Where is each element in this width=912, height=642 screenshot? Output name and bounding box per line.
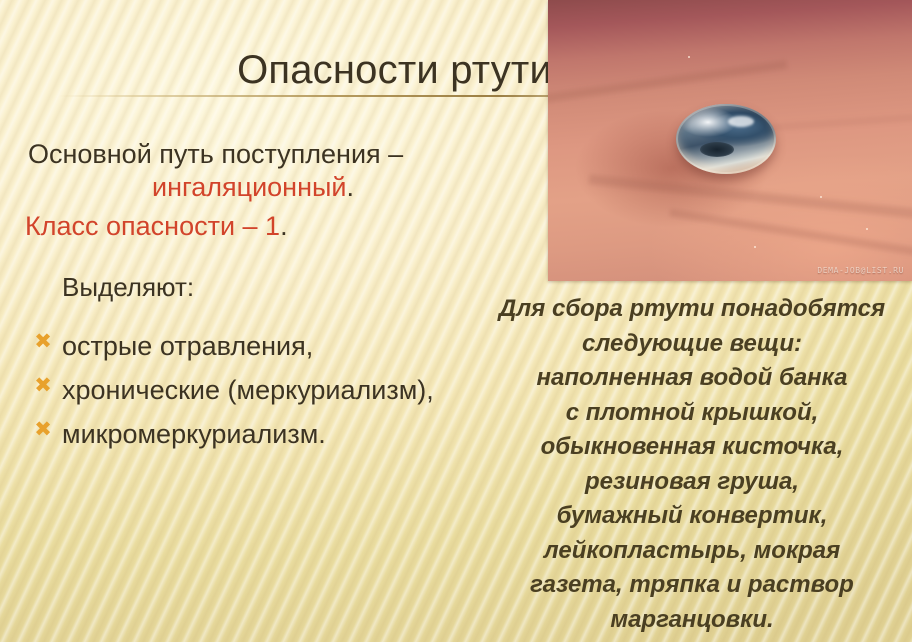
skin-speck [866,228,868,230]
collection-line: марганцовки. [476,603,908,638]
skin-speck [754,246,756,248]
hazard-class-text: Класс опасности – 1 [25,211,280,241]
cross-bullet-icon: ✖ [33,332,53,352]
route-lead-text: Основной путь поступления – [28,139,403,169]
hazard-class-paragraph: Класс опасности – 1. [0,209,520,243]
list-item: ✖ хронические (меркуриализм), [0,374,520,407]
hazard-class-period: . [280,211,288,241]
skin-speck [820,196,822,198]
route-of-entry-paragraph: Основной путь поступления – ингаляционны… [0,138,520,204]
route-period: . [347,172,355,202]
collection-line: резиновая груша, [476,465,908,500]
collection-line: следующие вещи: [476,327,908,362]
list-item-label: острые отравления, [62,330,520,363]
bead-rim-light [676,104,776,174]
skin-speck [688,56,690,58]
list-item-label: микромеркуриализм. [62,418,520,451]
collection-line: газета, тряпка и раствор [476,568,908,603]
list-item-label: хронические (меркуриализм), [62,374,520,407]
collection-line: Для сбора ртути понадобятся [476,292,908,327]
title-underline-rule [58,95,558,97]
left-content-column: Основной путь поступления – ингаляционны… [0,138,520,462]
collection-line: с плотной крышкой, [476,396,908,431]
page-title: Опасности ртути [237,46,552,94]
mercury-bead [676,104,776,174]
mercury-droplet-photo: DEMA-JOB@LIST.RU [548,0,912,281]
title-block: Опасности ртути [0,46,560,98]
route-highlight-text: ингаляционный [152,172,347,202]
distinguish-label: Выделяют: [0,270,520,304]
photo-watermark: DEMA-JOB@LIST.RU [817,266,904,275]
cross-bullet-icon: ✖ [33,376,53,396]
collection-instructions-block: Для сбора ртути понадобятся следующие ве… [476,292,908,637]
list-item: ✖ острые отравления, [0,330,520,363]
cross-bullet-icon: ✖ [33,420,53,440]
poisoning-types-list: ✖ острые отравления, ✖ хронические (мерк… [0,330,520,451]
list-item: ✖ микромеркуриализм. [0,418,520,451]
collection-line: лейкопластырь, мокрая [476,534,908,569]
collection-line: бумажный конвертик, [476,499,908,534]
slide-canvas: Опасности ртути Основной путь поступлени… [0,0,912,642]
collection-line: наполненная водой банка [476,361,908,396]
collection-line: обыкновенная кисточка, [476,430,908,465]
